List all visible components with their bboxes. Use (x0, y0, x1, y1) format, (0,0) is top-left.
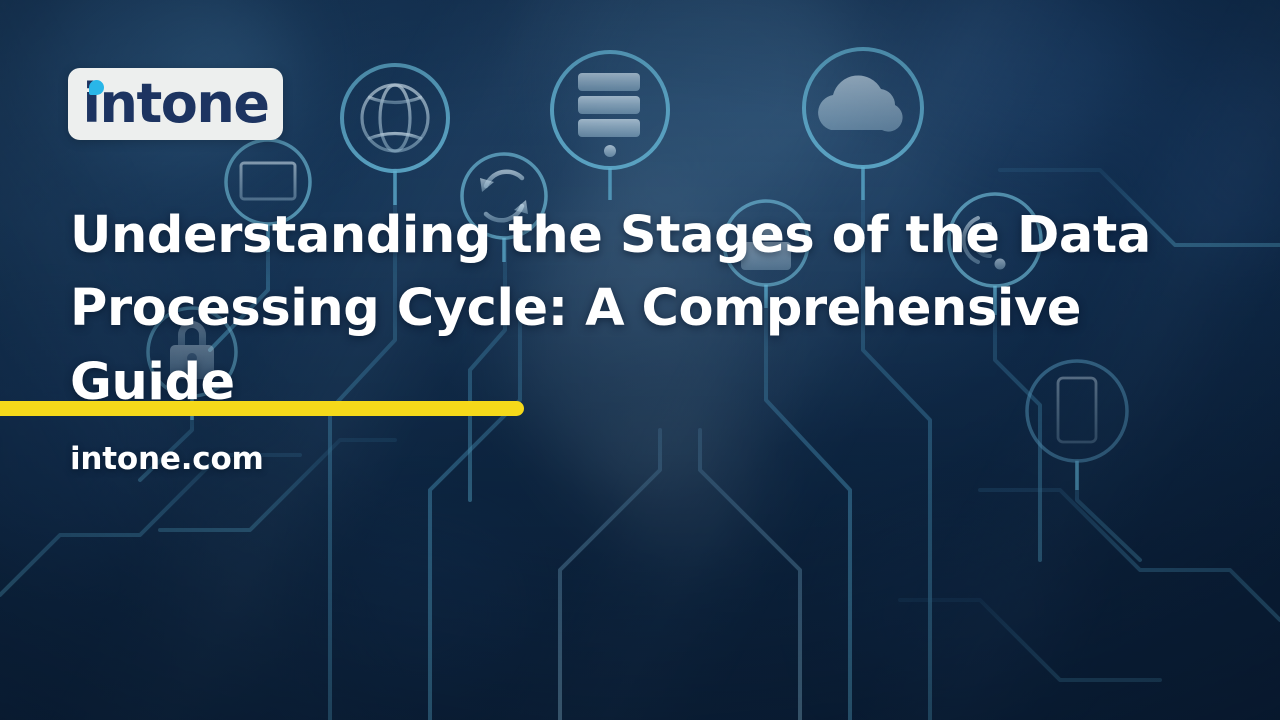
page-title: Understanding the Stages of the Data Pro… (70, 199, 1240, 419)
page-title-line-2: Processing Cycle: A Comprehensive Guide (70, 272, 1240, 419)
logo-wrap: intone (83, 77, 269, 131)
accent-divider (0, 401, 524, 416)
slide-canvas: intone Understanding the Stages of the D… (0, 0, 1280, 720)
logo-text: intone (83, 72, 269, 135)
page-title-line-1: Understanding the Stages of the Data (70, 199, 1240, 272)
site-url-label: intone.com (70, 441, 264, 477)
brand-logo[interactable]: intone (68, 68, 283, 140)
logo-dot-icon (89, 80, 104, 95)
